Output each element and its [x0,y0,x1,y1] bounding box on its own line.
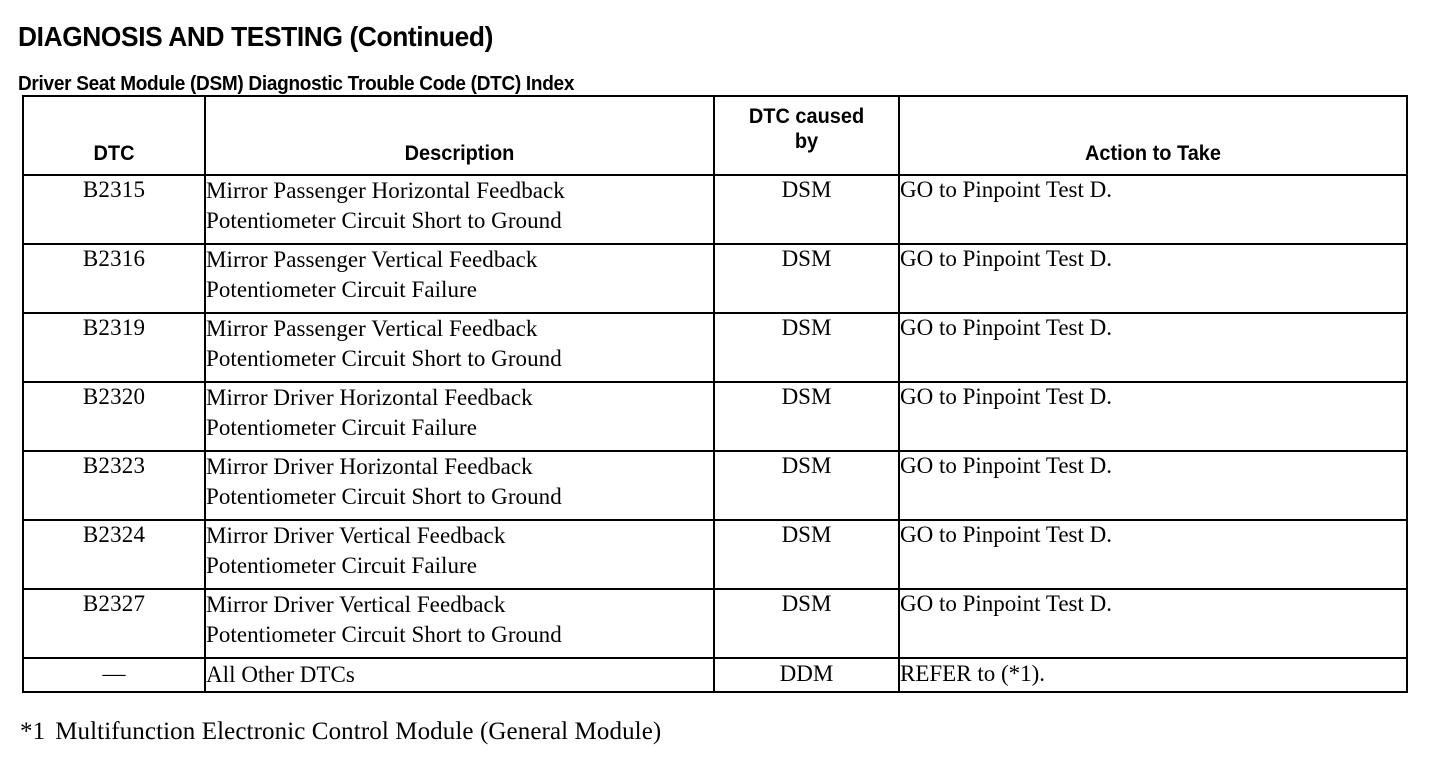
column-header-description: Description [205,96,714,175]
description-line-2: Potentiometer Circuit Failure [206,551,713,581]
column-header-dtc: DTC [23,96,205,175]
dtc-index-table: DTC Description DTC caused by Action to … [22,95,1408,693]
cell-dtc: B2327 [23,589,205,658]
cell-caused-by: DSM [714,520,899,589]
cell-description: Mirror Passenger Horizontal Feedback Pot… [205,175,714,244]
cell-description: Mirror Driver Vertical Feedback Potentio… [205,589,714,658]
page-title: DIAGNOSIS AND TESTING (Continued) [18,21,493,53]
cell-action: GO to Pinpoint Test D. [899,451,1407,520]
cell-action: GO to Pinpoint Test D. [899,382,1407,451]
description-line-1: Mirror Passenger Vertical Feedback [206,247,537,272]
section-title: Driver Seat Module (DSM) Diagnostic Trou… [18,72,574,96]
table-row: B2327 Mirror Driver Vertical Feedback Po… [23,589,1407,658]
cell-dtc: B2316 [23,244,205,313]
cell-caused-by: DSM [714,244,899,313]
cell-description: Mirror Passenger Vertical Feedback Poten… [205,313,714,382]
description-line-1: Mirror Driver Vertical Feedback [206,523,505,548]
description-line-2: Potentiometer Circuit Failure [206,275,713,305]
description-line-2: Potentiometer Circuit Short to Ground [206,620,713,650]
column-header-caused-by-line1: DTC caused [720,104,894,129]
table-row: B2320 Mirror Driver Horizontal Feedback … [23,382,1407,451]
cell-action: GO to Pinpoint Test D. [899,313,1407,382]
description-line-1: All Other DTCs [206,662,355,687]
cell-caused-by: DSM [714,589,899,658]
table-row: B2323 Mirror Driver Horizontal Feedback … [23,451,1407,520]
footnote: *1Multifunction Electronic Control Modul… [20,717,661,747]
description-line-1: Mirror Driver Horizontal Feedback [206,454,533,479]
cell-description: Mirror Passenger Vertical Feedback Poten… [205,244,714,313]
column-header-dtc-label: DTC [29,141,200,166]
cell-action: GO to Pinpoint Test D. [899,244,1407,313]
cell-action: REFER to (*1). [899,658,1407,692]
cell-caused-by: DSM [714,313,899,382]
footnote-marker: *1 [20,718,45,745]
document-page: DIAGNOSIS AND TESTING (Continued) Driver… [0,0,1440,780]
cell-dtc: B2323 [23,451,205,520]
cell-description: All Other DTCs [205,658,714,692]
table-row: — All Other DTCs DDM REFER to (*1). [23,658,1407,692]
cell-dtc: — [23,658,205,692]
cell-description: Mirror Driver Horizontal Feedback Potent… [205,451,714,520]
cell-description: Mirror Driver Vertical Feedback Potentio… [205,520,714,589]
table-body: B2315 Mirror Passenger Horizontal Feedba… [23,175,1407,692]
column-header-action: Action to Take [899,96,1407,175]
table-row: B2315 Mirror Passenger Horizontal Feedba… [23,175,1407,244]
column-header-action-label: Action to Take [913,141,1394,166]
table-header-row: DTC Description DTC caused by Action to … [23,96,1407,175]
description-line-2: Potentiometer Circuit Short to Ground [206,482,713,512]
cell-action: GO to Pinpoint Test D. [899,589,1407,658]
cell-action: GO to Pinpoint Test D. [899,520,1407,589]
column-header-description-label: Description [219,141,701,166]
cell-caused-by: DSM [714,382,899,451]
description-line-1: Mirror Passenger Vertical Feedback [206,316,537,341]
cell-dtc: B2324 [23,520,205,589]
table-row: B2324 Mirror Driver Vertical Feedback Po… [23,520,1407,589]
cell-action: GO to Pinpoint Test D. [899,175,1407,244]
description-line-1: Mirror Passenger Horizontal Feedback [206,178,565,203]
description-line-2: Potentiometer Circuit Short to Ground [206,206,713,236]
description-line-2: Potentiometer Circuit Failure [206,413,713,443]
footnote-text: Multifunction Electronic Control Module … [55,718,661,745]
description-line-1: Mirror Driver Vertical Feedback [206,592,505,617]
cell-dtc: B2319 [23,313,205,382]
cell-description: Mirror Driver Horizontal Feedback Potent… [205,382,714,451]
cell-caused-by: DSM [714,175,899,244]
description-line-1: Mirror Driver Horizontal Feedback [206,385,533,410]
table-row: B2319 Mirror Passenger Vertical Feedback… [23,313,1407,382]
cell-dtc: B2320 [23,382,205,451]
cell-caused-by: DSM [714,451,899,520]
table-row: B2316 Mirror Passenger Vertical Feedback… [23,244,1407,313]
column-header-caused-by: DTC caused by [714,96,899,175]
cell-caused-by: DDM [714,658,899,692]
description-line-2: Potentiometer Circuit Short to Ground [206,344,713,374]
cell-dtc: B2315 [23,175,205,244]
column-header-caused-by-line2: by [720,129,894,154]
